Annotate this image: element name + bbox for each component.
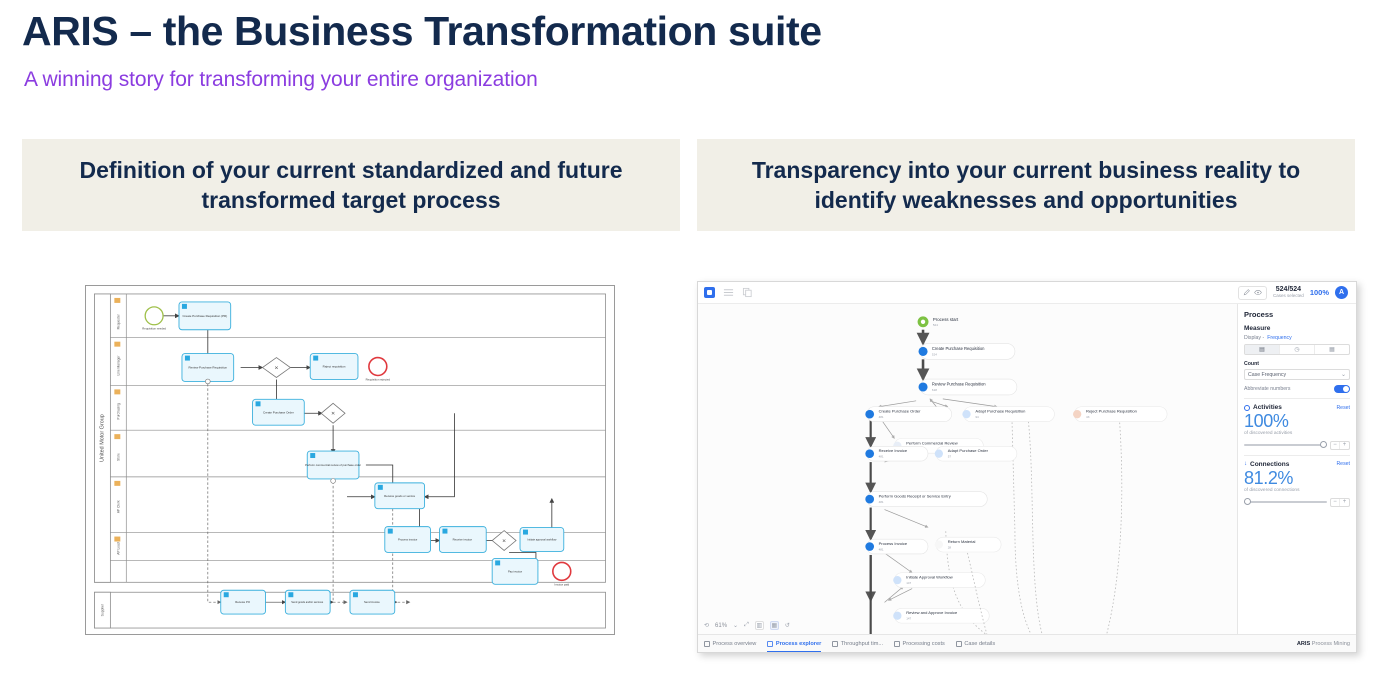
count-select[interactable]: Case Frequency ⌄ — [1244, 369, 1350, 380]
cases-selected-indicator: 524/524 Cases selected — [1273, 286, 1304, 298]
overview-icon — [704, 641, 710, 647]
activities-stepper[interactable]: − + — [1330, 441, 1350, 450]
count-label: Count — [1244, 361, 1350, 367]
svg-text:✕: ✕ — [274, 366, 278, 372]
view-tools-group[interactable] — [1238, 286, 1267, 300]
pencil-icon[interactable] — [1243, 289, 1250, 296]
caption-right-text: Transparency into your current business … — [719, 155, 1333, 216]
display-mode-bar-icon[interactable]: ▤ — [1245, 345, 1280, 354]
connections-header: ↓ Connections Reset — [1244, 461, 1350, 468]
graph-node-label: Process Invoice — [879, 541, 908, 546]
graph-node-activity[interactable]: Perform Goods Receipt or Service Entry 4… — [865, 492, 987, 507]
grid-icon[interactable]: ▦ — [770, 621, 779, 630]
tab-label: Processing costs — [903, 641, 945, 647]
bpmn-lane-label: Requester — [116, 313, 120, 329]
graph-node-value: 147 — [906, 617, 911, 621]
graph-node-label: Return Material — [948, 539, 976, 544]
graph-node-value: 481 — [879, 415, 884, 419]
graph-node-label: Adapt Purchase Requisition — [975, 409, 1025, 414]
bpmn-end-event — [553, 562, 571, 580]
bpmn-lane-label: Purchasing — [116, 403, 120, 420]
canvas-zoom-value[interactable]: 61% — [715, 623, 727, 629]
app-topbar: 524/524 Cases selected 100% A — [698, 282, 1356, 304]
bpmn-end-event-label: Invoice paid — [554, 582, 569, 586]
bpmn-task-label: Receive PO — [235, 600, 251, 604]
graph-node-start[interactable]: Process start 524 — [918, 316, 959, 327]
connections-slider-row[interactable]: − + — [1244, 498, 1350, 507]
bpmn-start-event — [145, 307, 163, 325]
activities-slider-row[interactable]: − + — [1244, 441, 1350, 450]
app-logo-icon[interactable] — [704, 287, 715, 298]
graph-node-label: Review Purchase Requisition — [932, 382, 986, 387]
graph-node-activity[interactable]: Receive Invoice 481 — [865, 446, 928, 461]
divider — [1244, 455, 1350, 456]
bpmn-task-label: Reject requisition — [323, 365, 346, 369]
bpmn-task-label: Receive goods or service — [384, 494, 416, 498]
chevron-down-icon[interactable]: ⌄ — [733, 622, 738, 629]
tab-label: Case details — [964, 641, 995, 647]
graph-node-label: Create Purchase Requisition — [932, 346, 985, 351]
graph-node-label: Reject Purchase Requisition — [1086, 409, 1137, 414]
count-value: Case Frequency — [1248, 372, 1286, 378]
activities-title: Activities — [1253, 404, 1282, 411]
tab-process-explorer[interactable]: Process explorer — [767, 635, 821, 652]
abbreviate-label: Abbreviate numbers — [1244, 386, 1290, 392]
caption-left-text: Definition of your current standardized … — [44, 155, 658, 216]
graph-node-activity[interactable]: Initiate Approval Workflow 147 — [893, 573, 985, 588]
layout-icon[interactable]: ▥ — [755, 621, 764, 630]
duplicate-icon[interactable] — [742, 287, 753, 298]
graph-node-label: Adapt Purchase Order — [948, 448, 989, 453]
graph-node-value: 481 — [879, 548, 884, 552]
display-value[interactable]: Frequency — [1267, 335, 1292, 341]
brand-prefix: ARIS — [1297, 641, 1310, 647]
measure-section-title: Measure — [1244, 325, 1350, 332]
tab-label: Process explorer — [776, 641, 821, 647]
bpmn-end-event-label: Requisition rejected — [366, 377, 391, 381]
display-mode-segmented-control[interactable]: ▤ ◷ ▦ — [1244, 344, 1350, 355]
app-brand: ARIS Process Mining — [1297, 641, 1350, 647]
process-graph-canvas[interactable]: Process start 524 Create Purchase Requis… — [698, 304, 1238, 634]
process-mining-window: 524/524 Cases selected 100% A — [697, 281, 1357, 653]
graph-node-label: Initiate Approval Workflow — [906, 575, 953, 580]
bpmn-task-label: Process invoice — [398, 538, 418, 542]
activities-decrement-button[interactable]: − — [1331, 442, 1340, 449]
bpmn-lane-label: AP Lead — [116, 542, 120, 555]
divider — [1244, 398, 1350, 399]
zoom-level[interactable]: 100% — [1310, 288, 1329, 297]
activities-increment-button[interactable]: + — [1340, 442, 1349, 449]
connections-caption: of discovered connections — [1244, 488, 1350, 493]
bpmn-lane-label: Store — [116, 453, 120, 461]
page-subtitle: A winning story for transforming your en… — [24, 68, 538, 92]
graph-node-value: 43 — [1086, 415, 1090, 419]
process-graph: Process start 524 Create Purchase Requis… — [698, 304, 1237, 634]
graph-node-activity[interactable]: Reject Purchase Requisition 43 — [1073, 407, 1167, 422]
bpmn-task-label: Send invoice — [364, 600, 380, 604]
graph-node-value: 481 — [879, 500, 884, 504]
bpmn-lane-label: AP Clerk — [116, 500, 120, 513]
graph-node-value: 147 — [906, 581, 911, 585]
tab-label: Process overview — [713, 641, 757, 647]
process-settings-sidebar[interactable]: Process Measure Display - Frequency ▤ ◷ … — [1238, 304, 1356, 634]
reset-icon[interactable]: ↺ — [785, 622, 790, 629]
graph-node-label: Review and Approve Invoice — [906, 610, 958, 615]
avatar[interactable]: A — [1335, 286, 1348, 299]
connections-increment-button[interactable]: + — [1340, 499, 1349, 506]
graph-node-activity[interactable]: Adapt Purchase Requisition 94 — [962, 407, 1054, 422]
abbreviate-row[interactable]: Abbreviate numbers — [1244, 385, 1350, 393]
bpmn-diagram: United Motor Group Requester Line Manage… — [86, 286, 614, 634]
eye-icon[interactable] — [1254, 289, 1262, 296]
page-title: ARIS – the Business Transformation suite — [22, 8, 822, 55]
connections-reset-button[interactable]: Reset — [1336, 461, 1350, 467]
connections-slider[interactable] — [1244, 501, 1327, 503]
bpmn-external-lane-label: Supplier — [100, 603, 104, 616]
brand-suffix: Process Mining — [1310, 641, 1350, 647]
case-details-icon — [956, 641, 962, 647]
graph-node-label: Perform Commercial Review — [906, 440, 958, 445]
bpmn-start-event-label: Requisition needed — [142, 327, 166, 331]
chevron-down-icon[interactable]: ⌄ — [1341, 371, 1346, 378]
graph-node-activity[interactable]: Adapt Purchase Order 57 — [935, 446, 1017, 461]
costs-icon — [894, 641, 900, 647]
graph-node-label: Perform Goods Receipt or Service Entry — [879, 494, 952, 499]
activities-slider-handle[interactable] — [1320, 441, 1327, 448]
canvas-zoom-toolbar[interactable]: ⟲ 61% ⌄ ⤢ ▥ ▦ ↺ — [704, 621, 790, 630]
bpmn-task-label: Receive invoice — [453, 538, 473, 542]
bpmn-task-label: Send goods and/or services — [291, 600, 324, 604]
bpmn-end-event — [369, 358, 387, 376]
graph-node-activity[interactable]: Create Purchase Order 481 — [865, 407, 951, 422]
explorer-icon — [767, 641, 773, 647]
tab-process-overview[interactable]: Process overview — [704, 635, 756, 652]
graph-node-value: 57 — [948, 455, 952, 459]
activities-slider[interactable] — [1244, 444, 1327, 446]
connections-decrement-button[interactable]: − — [1331, 499, 1340, 506]
display-mode-clock-icon[interactable]: ◷ — [1280, 345, 1315, 354]
activities-reset-button[interactable]: Reset — [1336, 405, 1350, 411]
tab-processing-costs[interactable]: Processing costs — [894, 635, 945, 652]
caption-left-process-definition: Definition of your current standardized … — [22, 139, 680, 231]
bpmn-pool-label: United Motor Group — [99, 414, 105, 462]
graph-node-activity[interactable]: Review and Approve Invoice 147 — [893, 608, 989, 623]
tab-case-details[interactable]: Case details — [956, 635, 995, 652]
activities-icon — [1244, 405, 1250, 411]
throughput-icon — [832, 641, 838, 647]
tab-label: Throughput tim... — [841, 641, 883, 647]
graph-node-activity[interactable]: Create Purchase Requisition 524 — [918, 344, 1014, 360]
menu-icon[interactable] — [723, 287, 734, 298]
display-mode-grid-icon[interactable]: ▦ — [1315, 345, 1349, 354]
caption-right-process-transparency: Transparency into your current business … — [697, 139, 1355, 231]
activities-header: Activities Reset — [1244, 404, 1350, 411]
bpmn-task-label: Create Purchase Requisition (PR) — [182, 314, 227, 318]
activities-value: 100% — [1244, 412, 1350, 431]
svg-text:✕: ✕ — [331, 411, 335, 417]
connections-value: 81.2% — [1244, 469, 1350, 488]
abbreviate-toggle[interactable] — [1334, 385, 1350, 393]
cases-caption: Cases selected — [1273, 294, 1304, 299]
undo-icon[interactable]: ⟲ — [704, 622, 709, 629]
bpmn-task-label: Review Purchase Requisition — [189, 366, 228, 370]
graph-node-label: Receive Invoice — [879, 448, 908, 453]
connections-slider-handle[interactable] — [1244, 498, 1251, 505]
tab-throughput-time[interactable]: Throughput tim... — [832, 635, 883, 652]
connections-icon: ↓ — [1244, 461, 1247, 467]
connections-stepper[interactable]: − + — [1330, 498, 1350, 507]
graph-node-value: 94 — [975, 415, 979, 419]
graph-node-activity[interactable]: Review Purchase Requisition 618 — [918, 379, 1016, 395]
connections-title: Connections — [1250, 461, 1289, 468]
graph-node-label: Create Purchase Order — [879, 409, 921, 414]
fit-to-screen-icon[interactable]: ⤢ — [744, 622, 749, 629]
app-footer-tabs[interactable]: Process overview Process explorer Throug… — [698, 634, 1356, 652]
svg-text:✕: ✕ — [502, 539, 506, 545]
graph-node-label: Process start — [933, 317, 959, 322]
activities-caption: of discovered activities — [1244, 431, 1350, 436]
graph-node-value: 618 — [932, 388, 937, 392]
bpmn-lane-label: Line Manager — [116, 355, 120, 376]
bpmn-task-label: Pay invoice — [508, 569, 523, 573]
graph-node-value: 481 — [879, 455, 884, 459]
graph-node-value: 524 — [933, 323, 938, 327]
display-label: Display - — [1244, 335, 1264, 341]
bpmn-task-label: Perform commercial review of purchase or… — [305, 463, 361, 467]
graph-node-activity[interactable]: Return Material 28 — [935, 537, 1001, 552]
graph-node-activity[interactable]: Process Invoice 481 — [865, 539, 928, 554]
bpmn-diagram-frame: United Motor Group Requester Line Manage… — [85, 285, 615, 635]
graph-node-value: 28 — [948, 546, 952, 550]
bpmn-task-label: Initiate approval workflow — [527, 538, 556, 542]
graph-node-value: 524 — [932, 352, 937, 356]
sidebar-panel-title: Process — [1244, 310, 1350, 319]
bpmn-task-label: Create Purchase Order — [263, 410, 294, 414]
display-row: Display - Frequency — [1244, 335, 1350, 341]
